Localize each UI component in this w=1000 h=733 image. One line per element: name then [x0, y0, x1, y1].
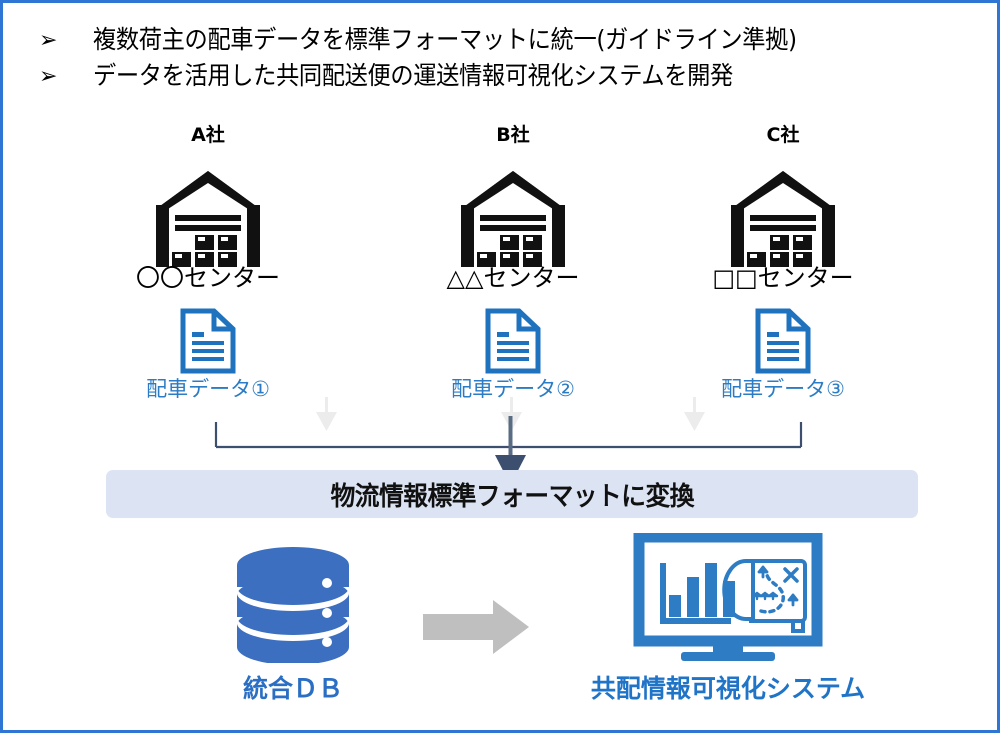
data-label: 配車データ③: [663, 375, 903, 403]
bullet-list: ➢ 複数荷主の配車データを標準フォーマットに統一(ガイドライン準拠) ➢ データ…: [31, 23, 975, 95]
right-arrow-icon: [421, 598, 531, 656]
visualization-label: 共配情報可視化システム: [548, 669, 908, 705]
data-label: 配車データ①: [88, 375, 328, 403]
database-block: 統合ＤＢ: [188, 543, 398, 705]
slide-canvas: ➢ 複数荷主の配車データを標準フォーマットに統一(ガイドライン準拠) ➢ データ…: [0, 0, 1000, 733]
company-label: A社: [88, 123, 328, 147]
database-label: 統合ＤＢ: [188, 669, 398, 705]
banner-text: 物流情報標準フォーマットに変換: [330, 476, 693, 513]
document-icon: [88, 307, 328, 375]
standard-format-banner: 物流情報標準フォーマットに変換: [106, 470, 918, 518]
monitor-chart-icon: [548, 533, 908, 661]
document-icon: [663, 307, 903, 375]
database-icon: [188, 543, 398, 663]
warehouse-icon: [88, 165, 328, 277]
document-icon: [393, 307, 633, 375]
company-label: C社: [663, 123, 903, 147]
bullet-item: ➢ データを活用した共同配送便の運送情報可視化システムを開発: [31, 59, 975, 95]
arrowhead-bullet-icon: ➢: [31, 23, 93, 57]
company-column-a: A社: [88, 123, 328, 403]
warehouse-icon: [663, 165, 903, 277]
company-column-b: B社 △△センター: [393, 123, 633, 403]
data-label: 配車データ②: [393, 375, 633, 403]
bullet-text: 複数荷主の配車データを標準フォーマットに統一(ガイドライン準拠): [93, 23, 797, 57]
company-label: B社: [393, 123, 633, 147]
merge-bracket: [216, 422, 801, 447]
bullet-item: ➢ 複数荷主の配車データを標準フォーマットに統一(ガイドライン準拠): [31, 23, 975, 59]
center-label: 〇〇センター: [88, 263, 328, 293]
company-column-c: C社 □□センター: [663, 123, 903, 403]
arrowhead-bullet-icon: ➢: [31, 59, 93, 93]
bullet-text: データを活用した共同配送便の運送情報可視化システムを開発: [93, 59, 733, 93]
visualization-block: 共配情報可視化システム: [548, 533, 908, 705]
warehouse-icon: [393, 165, 633, 277]
center-label: □□センター: [663, 263, 903, 293]
center-label: △△センター: [393, 263, 633, 293]
